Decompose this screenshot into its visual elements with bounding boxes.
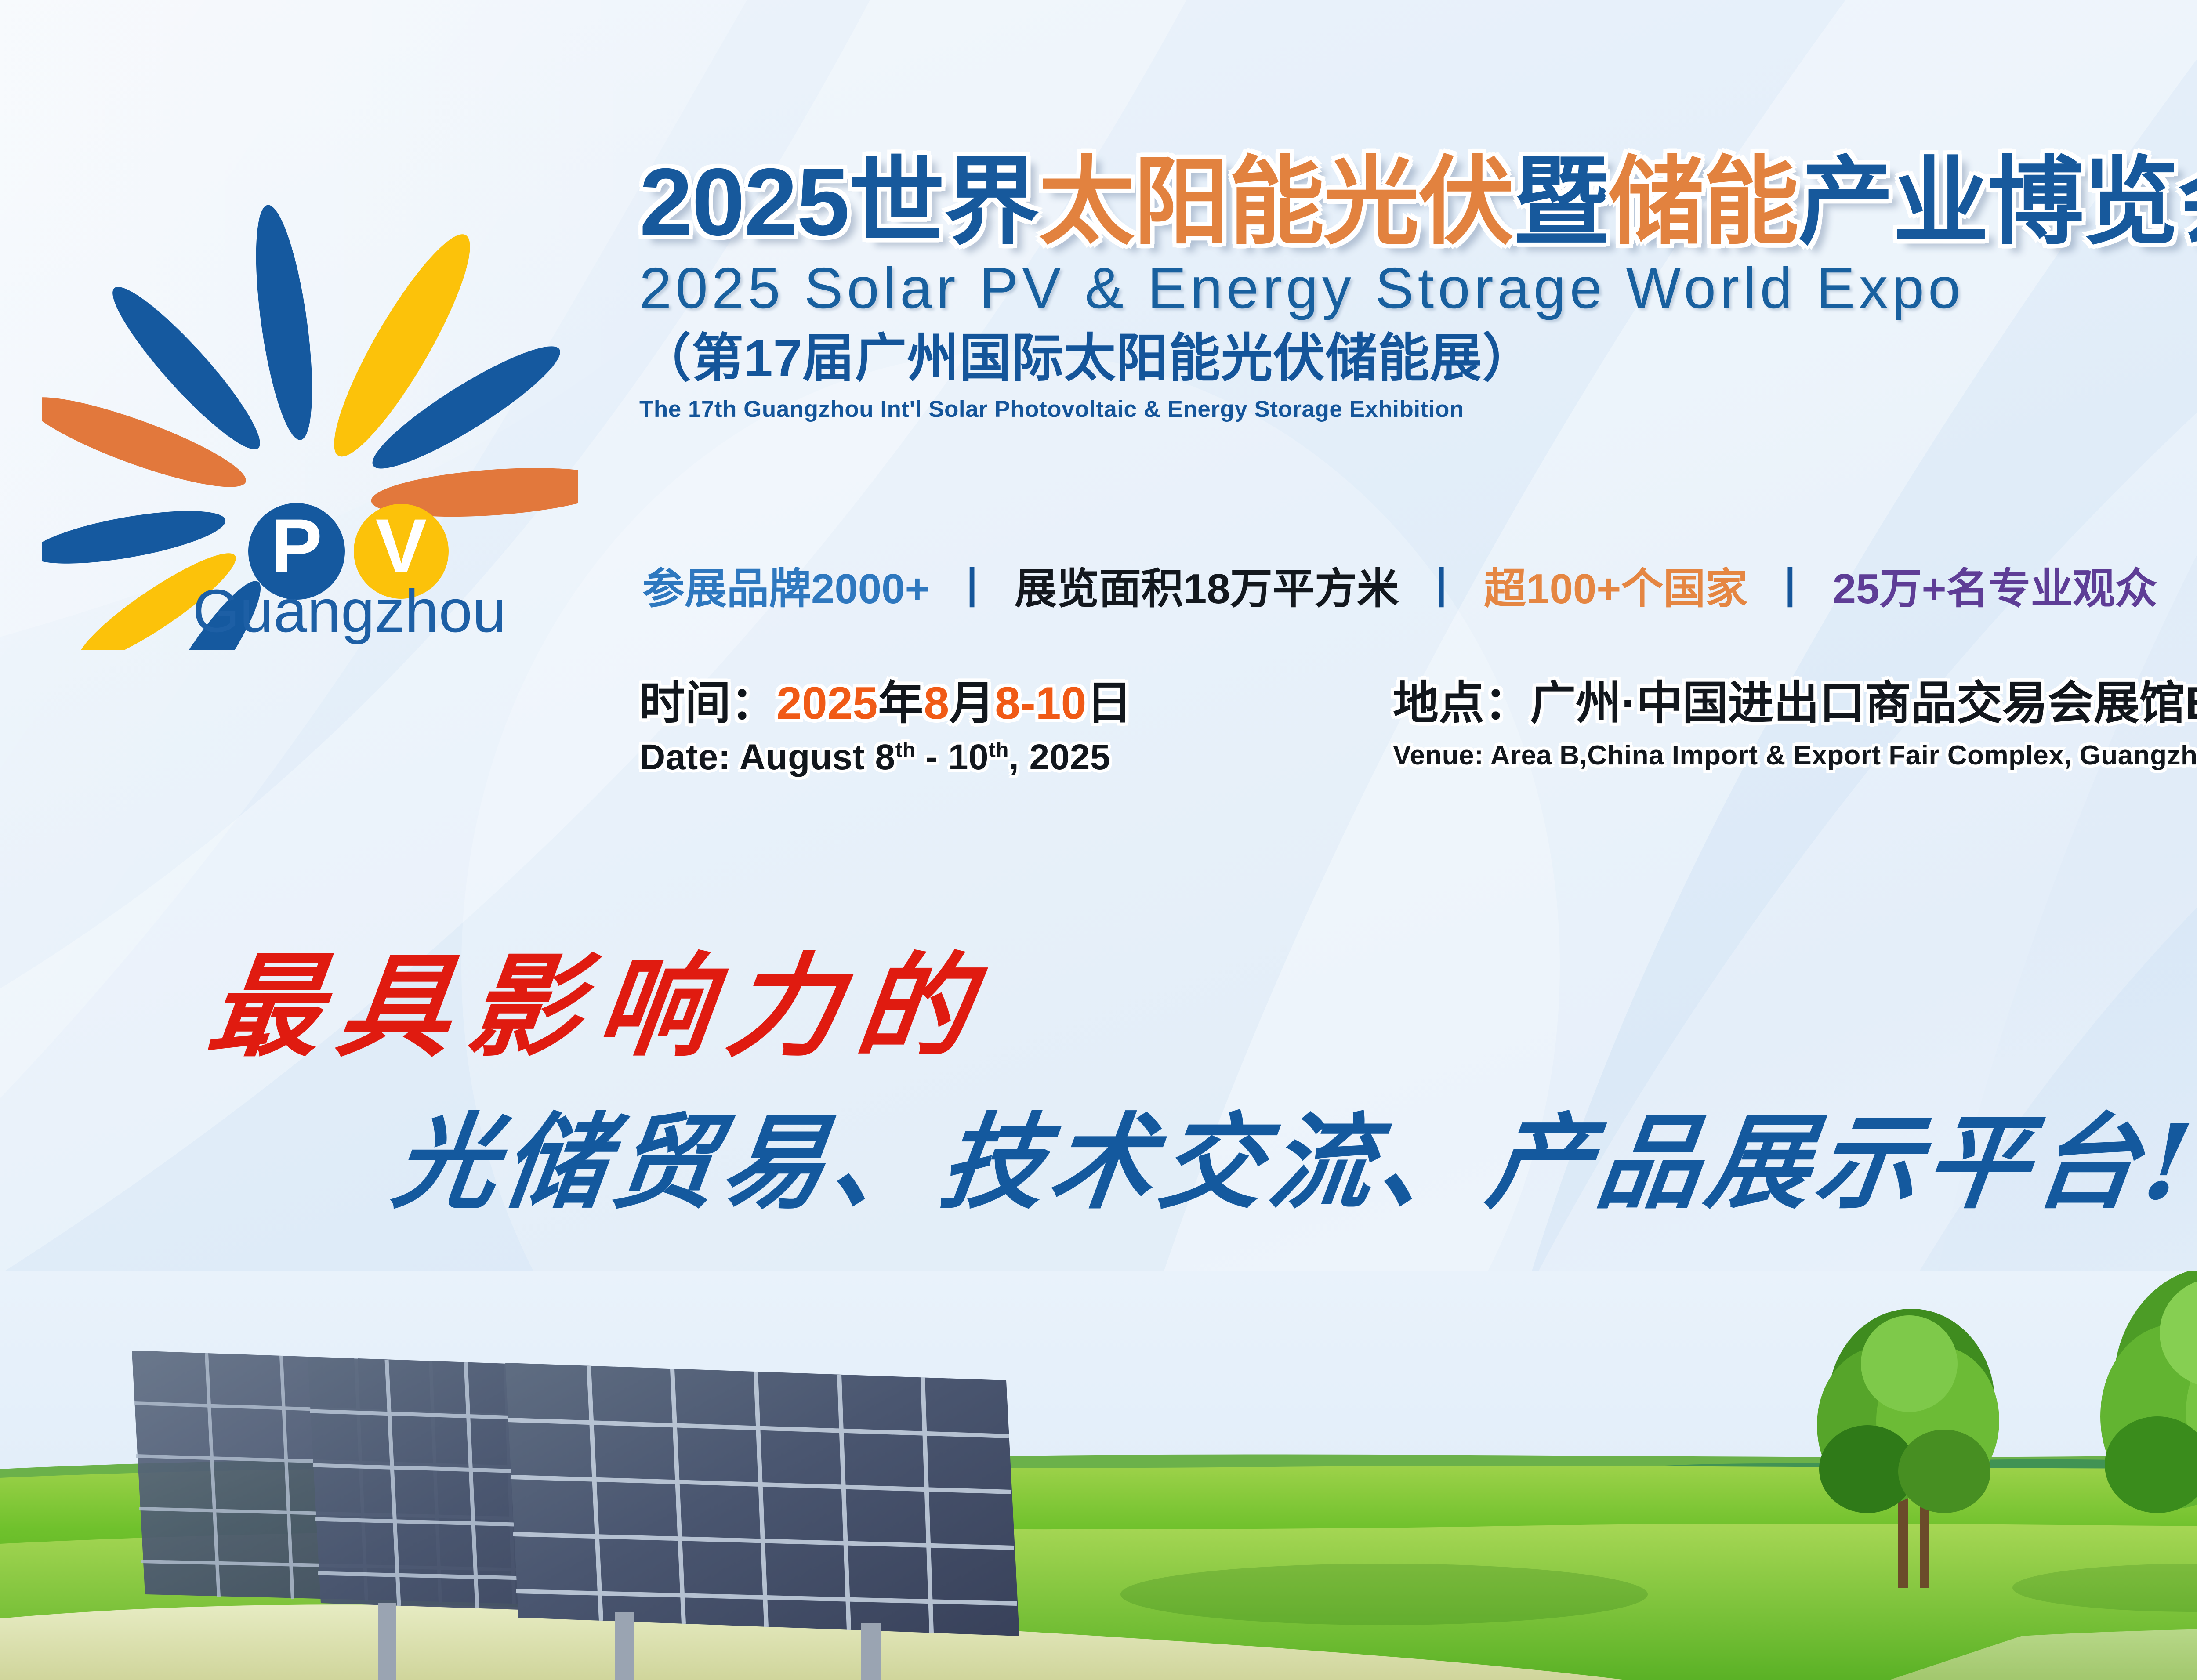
event-venue-chinese: 地点：广州·中国进出口商品交易会展馆B区 [1393,677,2197,731]
logo-letter-p: P [271,503,323,589]
stats-strip: 参展品牌2000+ 丨 展览面积18万平方米 丨 超100+个国家 丨 25万+… [642,554,2157,616]
stat-item-area: 展览面积18万平方米 [1015,565,1399,612]
title-segment-1: 2025世界 [639,149,1039,256]
page-subtitle-chinese: （第17届广州国际太阳能光伏储能展） [639,330,2197,387]
title-segment-3: 暨 [1513,149,1608,256]
stat-item-visitors: 25万+名专业观众 [1833,565,2157,612]
date-en-mid: - 10 [915,737,989,777]
landscape-illustration [0,1271,2197,1680]
date-year: 2025 [776,678,878,729]
slogan-line-1: 最具影响力的 [201,916,998,1078]
date-en-prefix: Date: August 8 [639,737,895,777]
stat-separator-1: 丨 [941,565,1003,612]
title-segment-4: 储能 [1608,149,1798,256]
page-subtitle-english: The 17th Guangzhou Int'l Solar Photovolt… [639,395,2197,424]
event-venue-block: 地点：广州·中国进出口商品交易会展馆B区 Venue: Area B,China… [1393,677,2197,772]
slogan-line-2: 光储贸易、技术交流、产品展示平台! [386,1079,2197,1228]
event-date-chinese: 时间：2025年8月8-10日 [639,677,1132,731]
logo-letter-v: V [376,503,427,589]
date-month-suffix: 月 [949,678,995,729]
venue-value: 广州·中国进出口商品交易会展馆B区 [1530,678,2197,729]
header-block: 2025世界太阳能光伏暨储能产业博览会 2025 Solar PV & Ener… [639,154,2197,424]
title-segment-5: 产业博览会 [1798,149,2197,256]
date-label: 时间： [639,678,776,729]
stat-item-countries: 超100+个国家 [1484,565,1747,612]
poster-canvas: P V Guangzhou 2025世界太阳能光伏暨储能产业博览会 2025 S… [0,0,2197,1680]
date-days: 8-10 [995,678,1086,729]
date-en-ordinal-2: th [989,738,1009,761]
event-date-english: Date: August 8th - 10th, 2025 [639,736,1132,779]
stat-separator-2: 丨 [1410,565,1472,612]
date-en-ordinal-1: th [895,738,916,761]
title-segment-2: 太阳能光伏 [1039,149,1513,256]
venue-label: 地点： [1393,678,1530,729]
stat-separator-3: 丨 [1759,565,1821,612]
stat-item-brands: 参展品牌2000+ [642,565,930,612]
date-en-suffix: , 2025 [1009,737,1110,777]
date-year-suffix: 年 [878,678,924,729]
page-title: 2025世界太阳能光伏暨储能产业博览会 [639,154,2197,251]
event-date-block: 时间：2025年8月8-10日 Date: August 8th - 10th,… [639,677,1132,779]
date-month: 8 [924,678,949,729]
page-title-english: 2025 Solar PV & Energy Storage World Exp… [639,257,2197,319]
event-venue-english: Venue: Area B,China Import & Export Fair… [1393,739,2197,772]
pv-guangzhou-logo[interactable]: P V Guangzhou [42,163,578,650]
date-days-suffix: 日 [1086,678,1132,729]
logo-city-label: Guangzhou [192,577,506,645]
